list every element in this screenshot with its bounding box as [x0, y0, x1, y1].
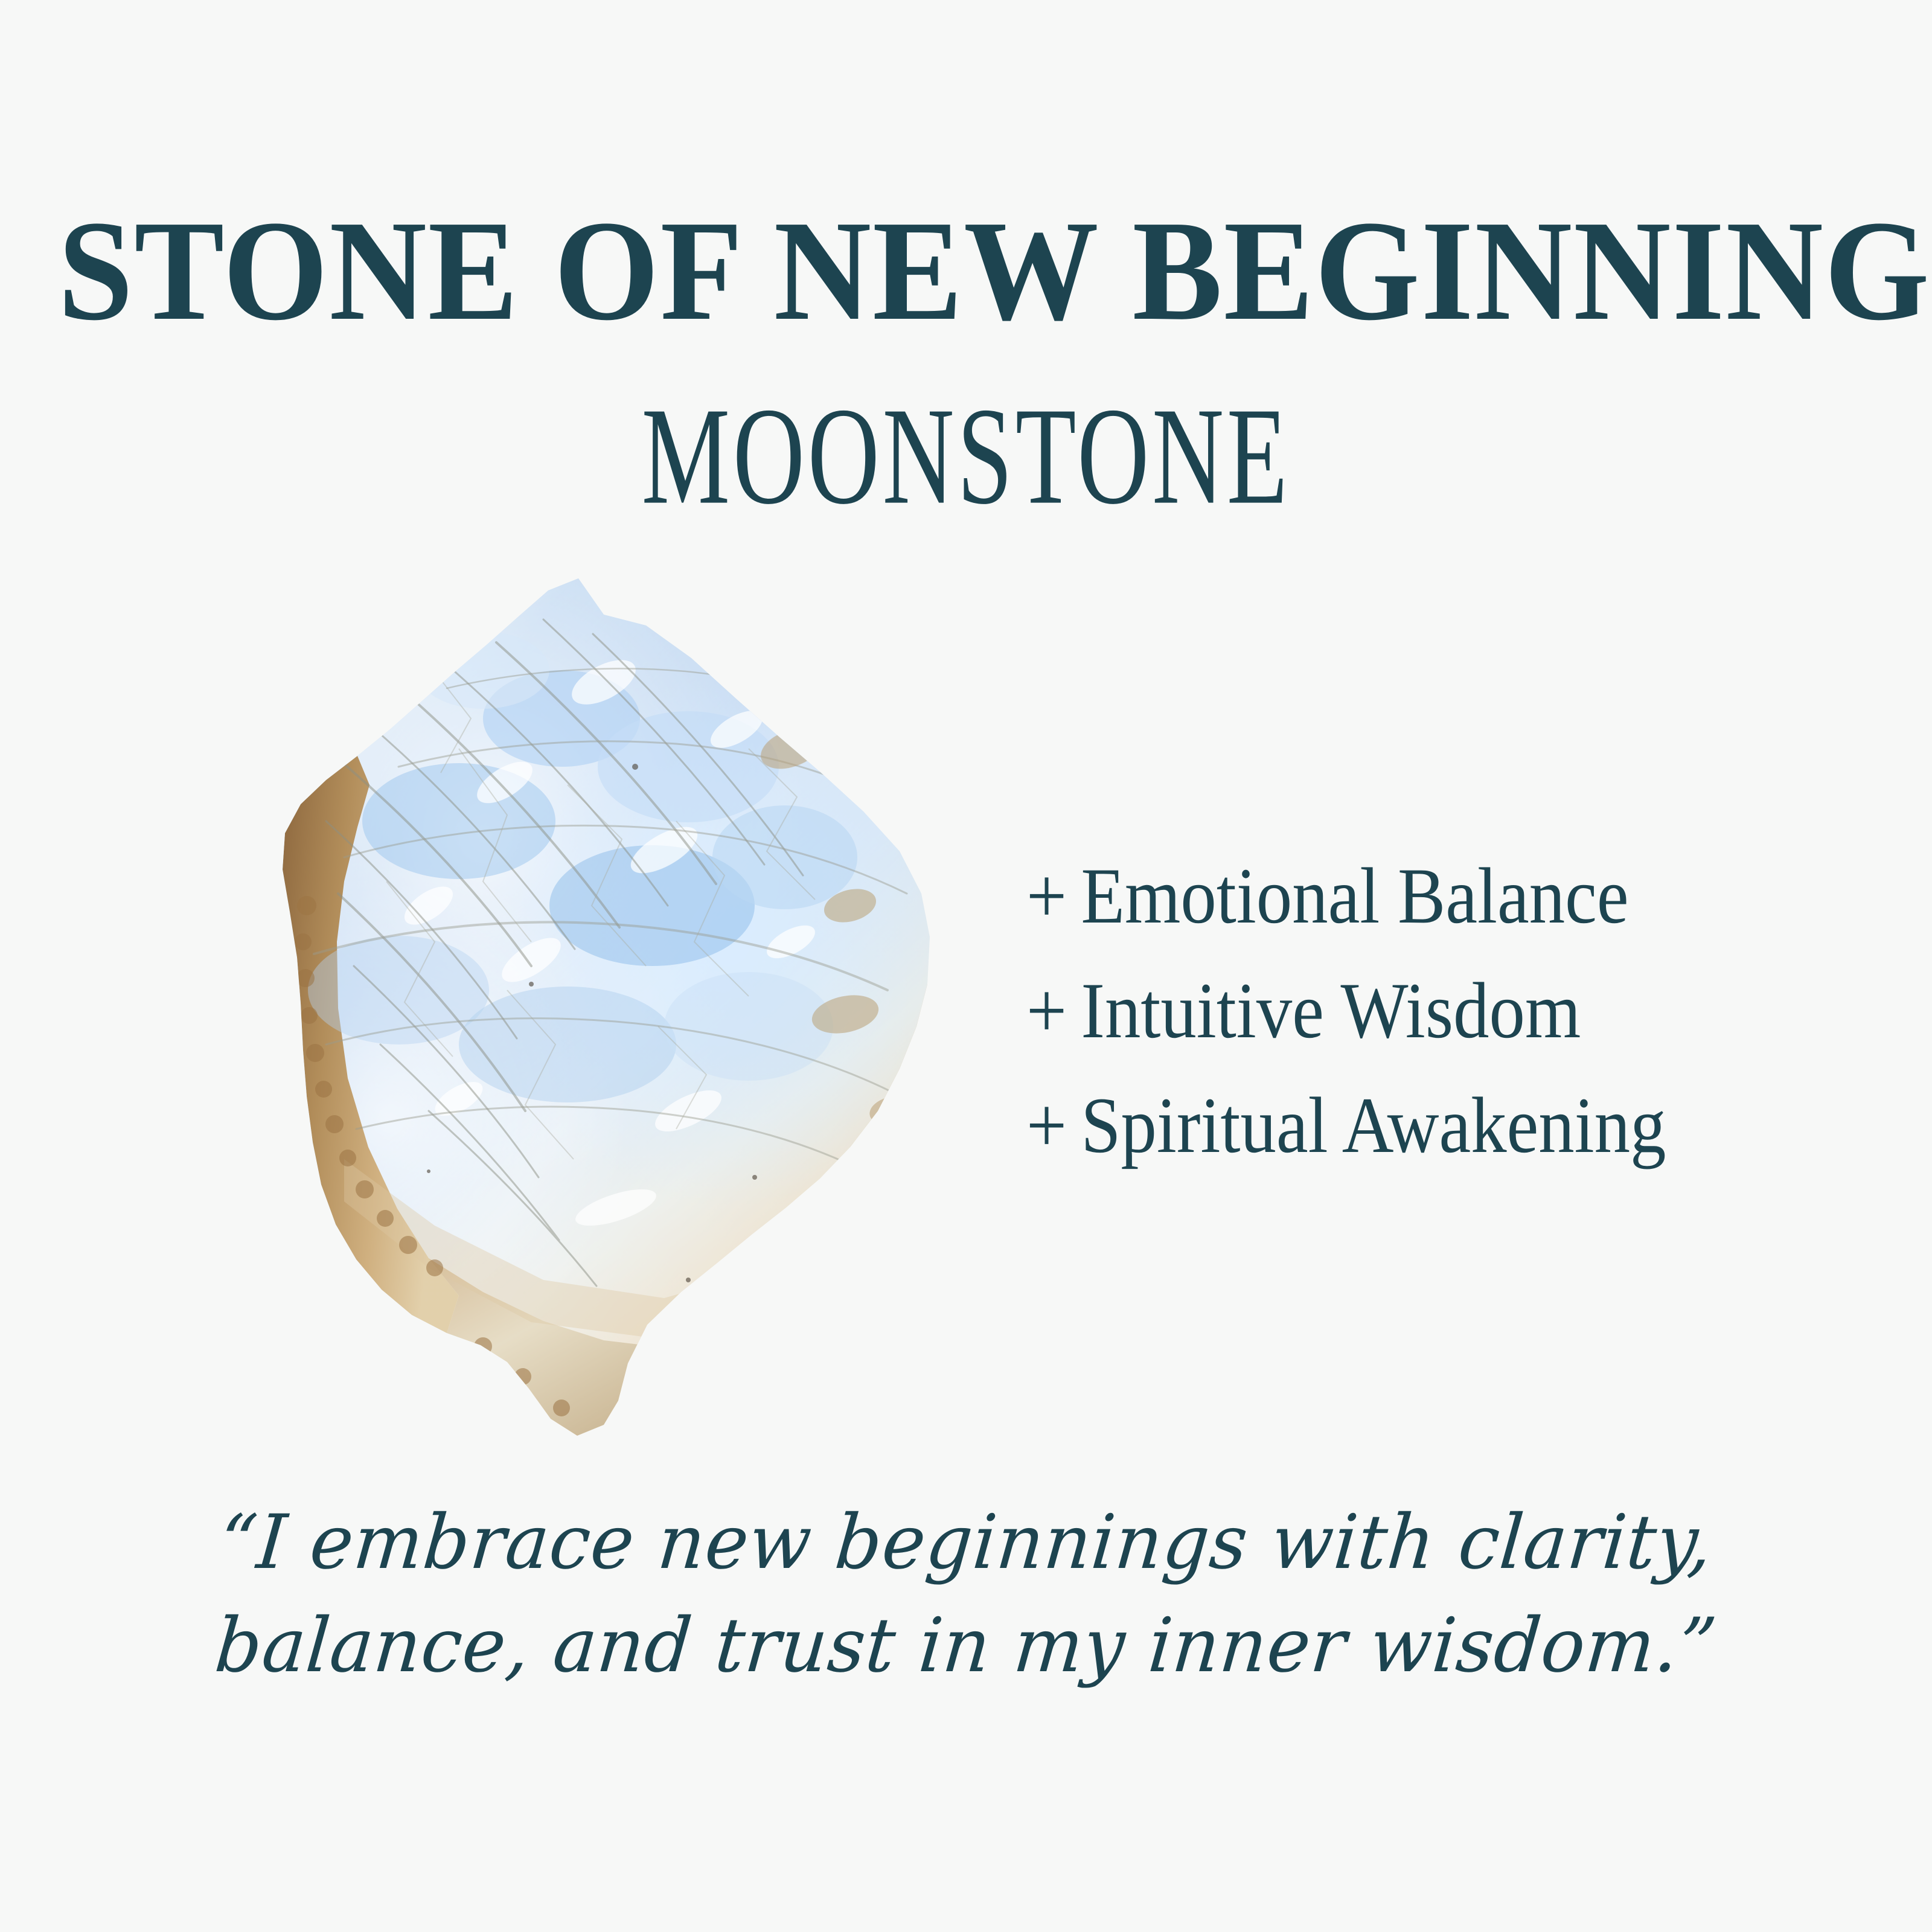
- benefit-item: +Intuitive Wisdom: [1026, 971, 1798, 1051]
- page-title: STONE OF NEW BEGINNINGS: [58, 199, 1874, 343]
- benefit-item: +Emotional Balance: [1026, 856, 1798, 936]
- affirmation-quote: “I embrace new beginnings with clarity, …: [0, 1491, 1932, 1698]
- plus-icon: +: [1026, 1081, 1067, 1169]
- plus-icon: +: [1026, 851, 1067, 940]
- page-subtitle: MOONSTONE: [193, 386, 1739, 526]
- quote-line: balance, and trust in my inner wisdom.”: [25, 1595, 1908, 1698]
- benefit-item: +Spiritual Awakening: [1026, 1086, 1798, 1165]
- benefits-list: +Emotional Balance +Intuitive Wisdom +Sp…: [1026, 856, 1884, 1200]
- moonstone-crystal-photo: [145, 568, 954, 1455]
- plus-icon: +: [1026, 966, 1067, 1055]
- poster-canvas: STONE OF NEW BEGINNINGS MOONSTONE: [0, 0, 1932, 1932]
- benefit-label: Emotional Balance: [1081, 851, 1628, 940]
- benefit-label: Intuitive Wisdom: [1081, 966, 1581, 1055]
- quote-line: “I embrace new beginnings with clarity,: [25, 1491, 1908, 1595]
- benefit-label: Spiritual Awakening: [1081, 1081, 1666, 1169]
